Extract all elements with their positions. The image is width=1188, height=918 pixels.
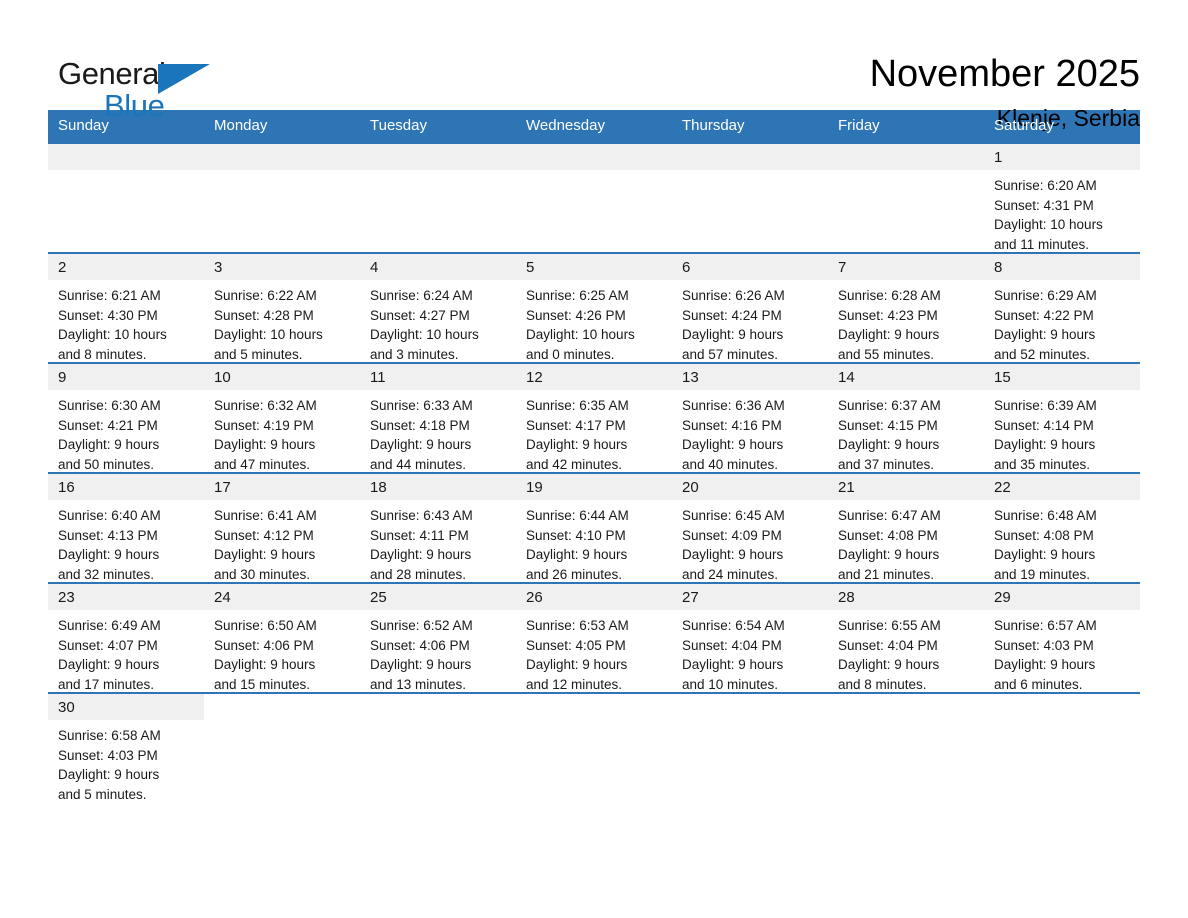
calendar-day-cell[interactable]: 29Sunrise: 6:57 AMSunset: 4:03 PMDayligh… [984, 583, 1140, 693]
sunset-text: Sunset: 4:17 PM [526, 416, 664, 436]
day-details: Sunrise: 6:41 AMSunset: 4:12 PMDaylight:… [204, 500, 360, 584]
day-details: Sunrise: 6:20 AMSunset: 4:31 PMDaylight:… [984, 170, 1140, 254]
day-number [516, 144, 672, 170]
day-details: Sunrise: 6:43 AMSunset: 4:11 PMDaylight:… [360, 500, 516, 584]
calendar-day-cell[interactable]: 27Sunrise: 6:54 AMSunset: 4:04 PMDayligh… [672, 583, 828, 693]
calendar-day-cell[interactable] [828, 693, 984, 802]
daylight-text-line1: Daylight: 9 hours [838, 325, 976, 345]
daylight-text-line2: and 50 minutes. [58, 455, 196, 475]
day-cell-content: 5Sunrise: 6:25 AMSunset: 4:26 PMDaylight… [516, 254, 672, 362]
day-number: 23 [48, 584, 204, 610]
day-cell-content: 18Sunrise: 6:43 AMSunset: 4:11 PMDayligh… [360, 474, 516, 582]
daylight-text-line2: and 28 minutes. [370, 565, 508, 585]
day-cell-content [984, 694, 1140, 802]
calendar-day-cell[interactable]: 20Sunrise: 6:45 AMSunset: 4:09 PMDayligh… [672, 473, 828, 583]
daylight-text-line1: Daylight: 10 hours [58, 325, 196, 345]
sunset-text: Sunset: 4:15 PM [838, 416, 976, 436]
daylight-text-line2: and 10 minutes. [682, 675, 820, 695]
daylight-text-line1: Daylight: 9 hours [682, 325, 820, 345]
daylight-text-line2: and 6 minutes. [994, 675, 1132, 695]
day-details: Sunrise: 6:54 AMSunset: 4:04 PMDaylight:… [672, 610, 828, 694]
day-cell-content: 25Sunrise: 6:52 AMSunset: 4:06 PMDayligh… [360, 584, 516, 692]
sunrise-text: Sunrise: 6:24 AM [370, 286, 508, 306]
day-number: 11 [360, 364, 516, 390]
day-cell-content: 22Sunrise: 6:48 AMSunset: 4:08 PMDayligh… [984, 474, 1140, 582]
day-details: Sunrise: 6:32 AMSunset: 4:19 PMDaylight:… [204, 390, 360, 474]
calendar-day-cell[interactable] [48, 143, 204, 253]
daylight-text-line2: and 3 minutes. [370, 345, 508, 365]
daylight-text-line1: Daylight: 9 hours [214, 435, 352, 455]
day-number: 18 [360, 474, 516, 500]
day-cell-content [672, 694, 828, 802]
calendar-day-cell[interactable]: 7Sunrise: 6:28 AMSunset: 4:23 PMDaylight… [828, 253, 984, 363]
day-cell-content: 6Sunrise: 6:26 AMSunset: 4:24 PMDaylight… [672, 254, 828, 362]
sunset-text: Sunset: 4:13 PM [58, 526, 196, 546]
day-cell-content: 8Sunrise: 6:29 AMSunset: 4:22 PMDaylight… [984, 254, 1140, 362]
day-cell-content [516, 144, 672, 252]
daylight-text-line2: and 12 minutes. [526, 675, 664, 695]
sunset-text: Sunset: 4:24 PM [682, 306, 820, 326]
daylight-text-line2: and 19 minutes. [994, 565, 1132, 585]
daylight-text-line1: Daylight: 9 hours [58, 435, 196, 455]
day-details: Sunrise: 6:49 AMSunset: 4:07 PMDaylight:… [48, 610, 204, 694]
day-cell-content [48, 144, 204, 252]
sunrise-text: Sunrise: 6:53 AM [526, 616, 664, 636]
day-cell-content: 28Sunrise: 6:55 AMSunset: 4:04 PMDayligh… [828, 584, 984, 692]
calendar-day-cell[interactable]: 26Sunrise: 6:53 AMSunset: 4:05 PMDayligh… [516, 583, 672, 693]
weekday-header-thursday: Thursday [672, 110, 828, 143]
sunset-text: Sunset: 4:04 PM [838, 636, 976, 656]
day-details: Sunrise: 6:24 AMSunset: 4:27 PMDaylight:… [360, 280, 516, 364]
daylight-text-line1: Daylight: 9 hours [526, 655, 664, 675]
sunset-text: Sunset: 4:16 PM [682, 416, 820, 436]
day-cell-content [204, 144, 360, 252]
day-details: Sunrise: 6:33 AMSunset: 4:18 PMDaylight:… [360, 390, 516, 474]
daylight-text-line1: Daylight: 9 hours [214, 545, 352, 565]
sunset-text: Sunset: 4:14 PM [994, 416, 1132, 436]
sunrise-text: Sunrise: 6:54 AM [682, 616, 820, 636]
daylight-text-line1: Daylight: 9 hours [838, 655, 976, 675]
calendar-day-cell[interactable] [984, 693, 1140, 802]
sunset-text: Sunset: 4:21 PM [58, 416, 196, 436]
calendar-day-cell[interactable] [828, 143, 984, 253]
day-details: Sunrise: 6:47 AMSunset: 4:08 PMDaylight:… [828, 500, 984, 584]
day-cell-content: 20Sunrise: 6:45 AMSunset: 4:09 PMDayligh… [672, 474, 828, 582]
sunrise-text: Sunrise: 6:45 AM [682, 506, 820, 526]
day-details: Sunrise: 6:29 AMSunset: 4:22 PMDaylight:… [984, 280, 1140, 364]
daylight-text-line1: Daylight: 9 hours [838, 545, 976, 565]
sunset-text: Sunset: 4:12 PM [214, 526, 352, 546]
sunrise-text: Sunrise: 6:39 AM [994, 396, 1132, 416]
calendar-day-cell[interactable] [672, 693, 828, 802]
sunrise-text: Sunrise: 6:55 AM [838, 616, 976, 636]
day-number: 29 [984, 584, 1140, 610]
day-number: 27 [672, 584, 828, 610]
calendar-day-cell[interactable] [204, 143, 360, 253]
sunset-text: Sunset: 4:08 PM [994, 526, 1132, 546]
day-details: Sunrise: 6:35 AMSunset: 4:17 PMDaylight:… [516, 390, 672, 474]
sunrise-text: Sunrise: 6:41 AM [214, 506, 352, 526]
calendar-week-row: 1Sunrise: 6:20 AMSunset: 4:31 PMDaylight… [48, 143, 1140, 253]
day-number: 13 [672, 364, 828, 390]
sunset-text: Sunset: 4:19 PM [214, 416, 352, 436]
day-cell-content: 11Sunrise: 6:33 AMSunset: 4:18 PMDayligh… [360, 364, 516, 472]
daylight-text-line1: Daylight: 9 hours [58, 545, 196, 565]
daylight-text-line1: Daylight: 9 hours [214, 655, 352, 675]
sunrise-text: Sunrise: 6:29 AM [994, 286, 1132, 306]
sunrise-text: Sunrise: 6:47 AM [838, 506, 976, 526]
sunset-text: Sunset: 4:07 PM [58, 636, 196, 656]
calendar-day-cell[interactable]: 14Sunrise: 6:37 AMSunset: 4:15 PMDayligh… [828, 363, 984, 473]
day-number: 3 [204, 254, 360, 280]
day-details: Sunrise: 6:40 AMSunset: 4:13 PMDaylight:… [48, 500, 204, 584]
day-details: Sunrise: 6:45 AMSunset: 4:09 PMDaylight:… [672, 500, 828, 584]
calendar-day-cell[interactable]: 10Sunrise: 6:32 AMSunset: 4:19 PMDayligh… [204, 363, 360, 473]
day-number [828, 144, 984, 170]
daylight-text-line1: Daylight: 9 hours [994, 435, 1132, 455]
daylight-text-line2: and 8 minutes. [838, 675, 976, 695]
day-cell-content [672, 144, 828, 252]
daylight-text-line2: and 26 minutes. [526, 565, 664, 585]
page-title: November 2025 [870, 54, 1140, 95]
calendar-day-cell[interactable]: 9Sunrise: 6:30 AMSunset: 4:21 PMDaylight… [48, 363, 204, 473]
logo-text-blue: Blue [104, 90, 164, 121]
sunset-text: Sunset: 4:31 PM [994, 196, 1132, 216]
sunset-text: Sunset: 4:22 PM [994, 306, 1132, 326]
day-number: 17 [204, 474, 360, 500]
day-cell-content [828, 144, 984, 252]
day-number [48, 144, 204, 170]
daylight-text-line1: Daylight: 10 hours [526, 325, 664, 345]
day-details: Sunrise: 6:55 AMSunset: 4:04 PMDaylight:… [828, 610, 984, 694]
day-cell-content [516, 694, 672, 802]
day-number: 28 [828, 584, 984, 610]
daylight-text-line2: and 40 minutes. [682, 455, 820, 475]
sunrise-text: Sunrise: 6:50 AM [214, 616, 352, 636]
daylight-text-line2: and 55 minutes. [838, 345, 976, 365]
page-header: General Blue November 2025 Klenje, Serbi… [48, 0, 1140, 98]
calendar-day-cell[interactable] [516, 693, 672, 802]
day-details: Sunrise: 6:39 AMSunset: 4:14 PMDaylight:… [984, 390, 1140, 474]
sunset-text: Sunset: 4:30 PM [58, 306, 196, 326]
sunset-text: Sunset: 4:28 PM [214, 306, 352, 326]
daylight-text-line2: and 47 minutes. [214, 455, 352, 475]
day-details: Sunrise: 6:30 AMSunset: 4:21 PMDaylight:… [48, 390, 204, 474]
sunrise-text: Sunrise: 6:44 AM [526, 506, 664, 526]
calendar-day-cell[interactable]: 2Sunrise: 6:21 AMSunset: 4:30 PMDaylight… [48, 253, 204, 363]
calendar-day-cell[interactable]: 19Sunrise: 6:44 AMSunset: 4:10 PMDayligh… [516, 473, 672, 583]
calendar-day-cell[interactable]: 5Sunrise: 6:25 AMSunset: 4:26 PMDaylight… [516, 253, 672, 363]
day-cell-content: 17Sunrise: 6:41 AMSunset: 4:12 PMDayligh… [204, 474, 360, 582]
weekday-header-wednesday: Wednesday [516, 110, 672, 143]
day-number: 30 [48, 694, 204, 720]
calendar-day-cell[interactable]: 12Sunrise: 6:35 AMSunset: 4:17 PMDayligh… [516, 363, 672, 473]
day-details: Sunrise: 6:44 AMSunset: 4:10 PMDaylight:… [516, 500, 672, 584]
day-cell-content [828, 694, 984, 802]
calendar-day-cell[interactable]: 30Sunrise: 6:58 AMSunset: 4:03 PMDayligh… [48, 693, 204, 802]
daylight-text-line2: and 5 minutes. [214, 345, 352, 365]
calendar-day-cell[interactable]: 24Sunrise: 6:50 AMSunset: 4:06 PMDayligh… [204, 583, 360, 693]
sunrise-text: Sunrise: 6:25 AM [526, 286, 664, 306]
day-cell-content: 27Sunrise: 6:54 AMSunset: 4:04 PMDayligh… [672, 584, 828, 692]
sunrise-text: Sunrise: 6:30 AM [58, 396, 196, 416]
day-cell-content: 12Sunrise: 6:35 AMSunset: 4:17 PMDayligh… [516, 364, 672, 472]
day-number: 10 [204, 364, 360, 390]
calendar-day-cell[interactable] [516, 143, 672, 253]
daylight-text-line2: and 42 minutes. [526, 455, 664, 475]
day-details: Sunrise: 6:50 AMSunset: 4:06 PMDaylight:… [204, 610, 360, 694]
month-calendar: Sunday Monday Tuesday Wednesday Thursday… [48, 110, 1140, 802]
day-cell-content: 7Sunrise: 6:28 AMSunset: 4:23 PMDaylight… [828, 254, 984, 362]
day-cell-content: 24Sunrise: 6:50 AMSunset: 4:06 PMDayligh… [204, 584, 360, 692]
day-number: 19 [516, 474, 672, 500]
calendar-day-cell[interactable]: 28Sunrise: 6:55 AMSunset: 4:04 PMDayligh… [828, 583, 984, 693]
daylight-text-line2: and 24 minutes. [682, 565, 820, 585]
calendar-day-cell[interactable]: 13Sunrise: 6:36 AMSunset: 4:16 PMDayligh… [672, 363, 828, 473]
sunset-text: Sunset: 4:06 PM [214, 636, 352, 656]
daylight-text-line1: Daylight: 10 hours [994, 215, 1132, 235]
day-cell-content: 15Sunrise: 6:39 AMSunset: 4:14 PMDayligh… [984, 364, 1140, 472]
calendar-day-cell[interactable] [204, 693, 360, 802]
calendar-day-cell[interactable]: 15Sunrise: 6:39 AMSunset: 4:14 PMDayligh… [984, 363, 1140, 473]
general-blue-logo: General Blue [48, 52, 258, 132]
day-number: 21 [828, 474, 984, 500]
sunrise-text: Sunrise: 6:48 AM [994, 506, 1132, 526]
daylight-text-line1: Daylight: 10 hours [214, 325, 352, 345]
day-cell-content: 21Sunrise: 6:47 AMSunset: 4:08 PMDayligh… [828, 474, 984, 582]
calendar-day-cell[interactable]: 3Sunrise: 6:22 AMSunset: 4:28 PMDaylight… [204, 253, 360, 363]
day-cell-content: 19Sunrise: 6:44 AMSunset: 4:10 PMDayligh… [516, 474, 672, 582]
daylight-text-line1: Daylight: 9 hours [838, 435, 976, 455]
day-cell-content: 30Sunrise: 6:58 AMSunset: 4:03 PMDayligh… [48, 694, 204, 802]
logo-text-general: General [58, 58, 166, 89]
day-number [204, 144, 360, 170]
calendar-day-cell[interactable]: 21Sunrise: 6:47 AMSunset: 4:08 PMDayligh… [828, 473, 984, 583]
daylight-text-line1: Daylight: 9 hours [682, 655, 820, 675]
day-number: 4 [360, 254, 516, 280]
daylight-text-line2: and 13 minutes. [370, 675, 508, 695]
day-details: Sunrise: 6:48 AMSunset: 4:08 PMDaylight:… [984, 500, 1140, 584]
sunrise-text: Sunrise: 6:36 AM [682, 396, 820, 416]
day-cell-content [204, 694, 360, 802]
day-details: Sunrise: 6:22 AMSunset: 4:28 PMDaylight:… [204, 280, 360, 364]
daylight-text-line1: Daylight: 9 hours [994, 545, 1132, 565]
day-cell-content: 16Sunrise: 6:40 AMSunset: 4:13 PMDayligh… [48, 474, 204, 582]
calendar-day-cell[interactable]: 16Sunrise: 6:40 AMSunset: 4:13 PMDayligh… [48, 473, 204, 583]
day-number: 16 [48, 474, 204, 500]
daylight-text-line2: and 8 minutes. [58, 345, 196, 365]
calendar-day-cell[interactable]: 22Sunrise: 6:48 AMSunset: 4:08 PMDayligh… [984, 473, 1140, 583]
sunrise-text: Sunrise: 6:58 AM [58, 726, 196, 746]
day-details: Sunrise: 6:36 AMSunset: 4:16 PMDaylight:… [672, 390, 828, 474]
sunset-text: Sunset: 4:11 PM [370, 526, 508, 546]
day-details: Sunrise: 6:57 AMSunset: 4:03 PMDaylight:… [984, 610, 1140, 694]
daylight-text-line2: and 44 minutes. [370, 455, 508, 475]
sunset-text: Sunset: 4:06 PM [370, 636, 508, 656]
sunrise-text: Sunrise: 6:35 AM [526, 396, 664, 416]
calendar-week-row: 9Sunrise: 6:30 AMSunset: 4:21 PMDaylight… [48, 363, 1140, 473]
day-cell-content: 13Sunrise: 6:36 AMSunset: 4:16 PMDayligh… [672, 364, 828, 472]
daylight-text-line1: Daylight: 9 hours [370, 545, 508, 565]
sunrise-text: Sunrise: 6:20 AM [994, 176, 1132, 196]
daylight-text-line1: Daylight: 9 hours [370, 435, 508, 455]
sunrise-text: Sunrise: 6:37 AM [838, 396, 976, 416]
day-cell-content: 10Sunrise: 6:32 AMSunset: 4:19 PMDayligh… [204, 364, 360, 472]
sunset-text: Sunset: 4:03 PM [58, 746, 196, 766]
daylight-text-line2: and 0 minutes. [526, 345, 664, 365]
calendar-day-cell[interactable] [672, 143, 828, 253]
daylight-text-line1: Daylight: 9 hours [526, 435, 664, 455]
sunset-text: Sunset: 4:23 PM [838, 306, 976, 326]
day-cell-content [360, 694, 516, 802]
sunset-text: Sunset: 4:05 PM [526, 636, 664, 656]
day-cell-content [360, 144, 516, 252]
sunrise-text: Sunrise: 6:26 AM [682, 286, 820, 306]
daylight-text-line1: Daylight: 9 hours [370, 655, 508, 675]
day-number: 25 [360, 584, 516, 610]
daylight-text-line2: and 52 minutes. [994, 345, 1132, 365]
calendar-week-row: 23Sunrise: 6:49 AMSunset: 4:07 PMDayligh… [48, 583, 1140, 693]
calendar-week-row: 16Sunrise: 6:40 AMSunset: 4:13 PMDayligh… [48, 473, 1140, 583]
daylight-text-line2: and 32 minutes. [58, 565, 196, 585]
calendar-day-cell[interactable]: 6Sunrise: 6:26 AMSunset: 4:24 PMDaylight… [672, 253, 828, 363]
daylight-text-line1: Daylight: 9 hours [682, 545, 820, 565]
day-number: 8 [984, 254, 1140, 280]
day-cell-content: 2Sunrise: 6:21 AMSunset: 4:30 PMDaylight… [48, 254, 204, 362]
day-cell-content: 29Sunrise: 6:57 AMSunset: 4:03 PMDayligh… [984, 584, 1140, 692]
sunset-text: Sunset: 4:27 PM [370, 306, 508, 326]
sunrise-text: Sunrise: 6:28 AM [838, 286, 976, 306]
daylight-text-line2: and 17 minutes. [58, 675, 196, 695]
day-details: Sunrise: 6:52 AMSunset: 4:06 PMDaylight:… [360, 610, 516, 694]
daylight-text-line1: Daylight: 9 hours [58, 765, 196, 785]
day-number: 26 [516, 584, 672, 610]
day-number [360, 144, 516, 170]
day-details: Sunrise: 6:28 AMSunset: 4:23 PMDaylight:… [828, 280, 984, 364]
calendar-body: 1Sunrise: 6:20 AMSunset: 4:31 PMDaylight… [48, 143, 1140, 802]
daylight-text-line2: and 11 minutes. [994, 235, 1132, 255]
calendar-week-row: 30Sunrise: 6:58 AMSunset: 4:03 PMDayligh… [48, 693, 1140, 802]
day-number: 6 [672, 254, 828, 280]
daylight-text-line1: Daylight: 9 hours [682, 435, 820, 455]
day-cell-content: 14Sunrise: 6:37 AMSunset: 4:15 PMDayligh… [828, 364, 984, 472]
daylight-text-line2: and 5 minutes. [58, 785, 196, 805]
daylight-text-line1: Daylight: 9 hours [526, 545, 664, 565]
day-number: 9 [48, 364, 204, 390]
calendar-week-row: 2Sunrise: 6:21 AMSunset: 4:30 PMDaylight… [48, 253, 1140, 363]
calendar-day-cell[interactable]: 17Sunrise: 6:41 AMSunset: 4:12 PMDayligh… [204, 473, 360, 583]
day-number: 22 [984, 474, 1140, 500]
sunrise-text: Sunrise: 6:22 AM [214, 286, 352, 306]
day-details: Sunrise: 6:25 AMSunset: 4:26 PMDaylight:… [516, 280, 672, 364]
day-number: 2 [48, 254, 204, 280]
day-number [672, 144, 828, 170]
calendar-day-cell[interactable]: 8Sunrise: 6:29 AMSunset: 4:22 PMDaylight… [984, 253, 1140, 363]
sunrise-text: Sunrise: 6:33 AM [370, 396, 508, 416]
sunrise-text: Sunrise: 6:57 AM [994, 616, 1132, 636]
sunset-text: Sunset: 4:09 PM [682, 526, 820, 546]
day-cell-content: 1Sunrise: 6:20 AMSunset: 4:31 PMDaylight… [984, 144, 1140, 252]
day-cell-content: 26Sunrise: 6:53 AMSunset: 4:05 PMDayligh… [516, 584, 672, 692]
day-number: 1 [984, 144, 1140, 170]
sunset-text: Sunset: 4:04 PM [682, 636, 820, 656]
day-details: Sunrise: 6:37 AMSunset: 4:15 PMDaylight:… [828, 390, 984, 474]
day-details: Sunrise: 6:53 AMSunset: 4:05 PMDaylight:… [516, 610, 672, 694]
day-cell-content: 23Sunrise: 6:49 AMSunset: 4:07 PMDayligh… [48, 584, 204, 692]
sunrise-text: Sunrise: 6:21 AM [58, 286, 196, 306]
day-details: Sunrise: 6:26 AMSunset: 4:24 PMDaylight:… [672, 280, 828, 364]
day-number: 24 [204, 584, 360, 610]
calendar-day-cell[interactable]: 18Sunrise: 6:43 AMSunset: 4:11 PMDayligh… [360, 473, 516, 583]
day-number: 14 [828, 364, 984, 390]
daylight-text-line2: and 30 minutes. [214, 565, 352, 585]
day-number: 20 [672, 474, 828, 500]
sunset-text: Sunset: 4:10 PM [526, 526, 664, 546]
sunset-text: Sunset: 4:08 PM [838, 526, 976, 546]
sunrise-text: Sunrise: 6:52 AM [370, 616, 508, 636]
day-number: 12 [516, 364, 672, 390]
day-cell-content: 4Sunrise: 6:24 AMSunset: 4:27 PMDaylight… [360, 254, 516, 362]
day-cell-content: 9Sunrise: 6:30 AMSunset: 4:21 PMDaylight… [48, 364, 204, 472]
calendar-day-cell[interactable]: 1Sunrise: 6:20 AMSunset: 4:31 PMDaylight… [984, 143, 1140, 253]
daylight-text-line1: Daylight: 9 hours [994, 655, 1132, 675]
daylight-text-line2: and 57 minutes. [682, 345, 820, 365]
calendar-day-cell[interactable]: 25Sunrise: 6:52 AMSunset: 4:06 PMDayligh… [360, 583, 516, 693]
calendar-day-cell[interactable]: 11Sunrise: 6:33 AMSunset: 4:18 PMDayligh… [360, 363, 516, 473]
day-cell-content: 3Sunrise: 6:22 AMSunset: 4:28 PMDaylight… [204, 254, 360, 362]
sunrise-text: Sunrise: 6:49 AM [58, 616, 196, 636]
day-details: Sunrise: 6:58 AMSunset: 4:03 PMDaylight:… [48, 720, 204, 804]
day-number: 7 [828, 254, 984, 280]
daylight-text-line2: and 35 minutes. [994, 455, 1132, 475]
daylight-text-line1: Daylight: 10 hours [370, 325, 508, 345]
day-number: 5 [516, 254, 672, 280]
daylight-text-line1: Daylight: 9 hours [58, 655, 196, 675]
calendar-page: General Blue November 2025 Klenje, Serbi… [0, 0, 1188, 918]
calendar-day-cell[interactable] [360, 143, 516, 253]
calendar-day-cell[interactable] [360, 693, 516, 802]
calendar-day-cell[interactable]: 4Sunrise: 6:24 AMSunset: 4:27 PMDaylight… [360, 253, 516, 363]
weekday-header-tuesday: Tuesday [360, 110, 516, 143]
sunrise-text: Sunrise: 6:32 AM [214, 396, 352, 416]
daylight-text-line2: and 21 minutes. [838, 565, 976, 585]
logo-triangle-icon [158, 64, 210, 94]
day-number: 15 [984, 364, 1140, 390]
sunset-text: Sunset: 4:18 PM [370, 416, 508, 436]
sunrise-text: Sunrise: 6:43 AM [370, 506, 508, 526]
sunset-text: Sunset: 4:03 PM [994, 636, 1132, 656]
day-details: Sunrise: 6:21 AMSunset: 4:30 PMDaylight:… [48, 280, 204, 364]
sunset-text: Sunset: 4:26 PM [526, 306, 664, 326]
daylight-text-line1: Daylight: 9 hours [994, 325, 1132, 345]
calendar-day-cell[interactable]: 23Sunrise: 6:49 AMSunset: 4:07 PMDayligh… [48, 583, 204, 693]
daylight-text-line2: and 15 minutes. [214, 675, 352, 695]
sunrise-text: Sunrise: 6:40 AM [58, 506, 196, 526]
daylight-text-line2: and 37 minutes. [838, 455, 976, 475]
